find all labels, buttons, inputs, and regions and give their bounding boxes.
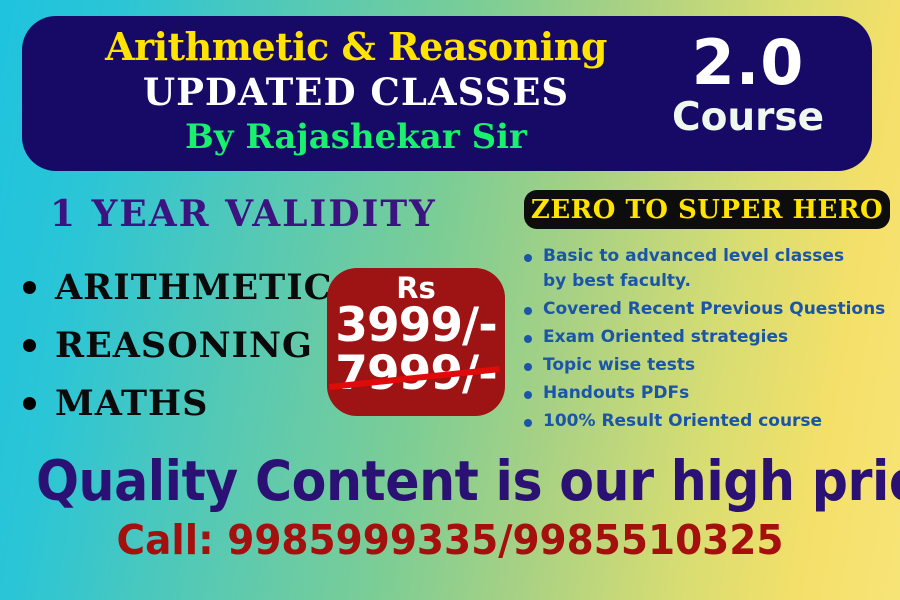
bullet-dot-icon: [23, 397, 36, 410]
subject-label: REASONING: [55, 326, 313, 366]
validity-heading: 1 YEAR VALIDITY: [50, 192, 437, 236]
bullet-dot-icon: [524, 363, 532, 371]
promo-poster: Arithmetic & Reasoning UPDATED CLASSES B…: [0, 0, 900, 600]
call-numbers[interactable]: 9985999335/9985510325: [214, 516, 784, 564]
price-original: 7999/-: [335, 348, 496, 400]
course-author: By Rajashekar Sir: [36, 115, 676, 159]
price-discounted: 3999/-: [327, 300, 505, 352]
list-item: REASONING: [14, 320, 332, 371]
list-item: Exam Oriented strategies: [516, 325, 900, 350]
course-subtitle: UPDATED CLASSES: [36, 70, 676, 115]
bullet-dot-icon: [524, 335, 532, 343]
feature-list: Basic to advanced level classes by best …: [516, 244, 900, 437]
bullet-dot-icon: [23, 281, 36, 294]
bullet-dot-icon: [23, 339, 36, 352]
bullet-dot-icon: [524, 391, 532, 399]
version-badge: 2.0 Course: [650, 30, 846, 140]
list-item: Basic to advanced level classes by best …: [516, 244, 900, 294]
contact-row: Call: 9985999335/9985510325: [23, 515, 878, 565]
course-title: Arithmetic & Reasoning: [36, 24, 676, 70]
subject-label: MATHS: [55, 384, 208, 424]
list-item: Covered Recent Previous Questions: [516, 297, 900, 322]
feature-label: Handouts PDFs: [543, 381, 689, 406]
tagline: Quality Content is our high priority: [36, 450, 864, 512]
feature-label: Covered Recent Previous Questions: [543, 297, 885, 322]
list-item: Topic wise tests: [516, 353, 900, 378]
list-item: Handouts PDFs: [516, 381, 900, 406]
price-badge: Rs 3999/- 7999/-: [327, 268, 505, 416]
header-panel: Arithmetic & Reasoning UPDATED CLASSES B…: [22, 16, 872, 171]
hero-banner: ZERO TO SUPER HERO: [524, 190, 890, 229]
bullet-dot-icon: [524, 419, 532, 427]
call-label: Call:: [117, 516, 214, 564]
list-item: 100% Result Oriented course: [516, 409, 900, 434]
bullet-dot-icon: [524, 254, 532, 262]
feature-label: 100% Result Oriented course: [543, 409, 822, 434]
feature-label: Exam Oriented strategies: [543, 325, 788, 350]
hero-banner-label: ZERO TO SUPER HERO: [531, 196, 883, 224]
version-word: Course: [650, 96, 846, 140]
bullet-dot-icon: [524, 307, 532, 315]
list-item: MATHS: [14, 378, 332, 429]
feature-label: Topic wise tests: [543, 353, 695, 378]
subject-label: ARITHMETIC: [55, 268, 332, 308]
subject-list: ARITHMETIC REASONING MATHS: [14, 262, 332, 436]
version-number: 2.0: [650, 30, 846, 96]
list-item: ARITHMETIC: [14, 262, 332, 313]
price-original-wrap: 7999/-: [327, 348, 505, 400]
feature-label: Basic to advanced level classes by best …: [543, 244, 844, 294]
header-title-block: Arithmetic & Reasoning UPDATED CLASSES B…: [36, 24, 676, 159]
